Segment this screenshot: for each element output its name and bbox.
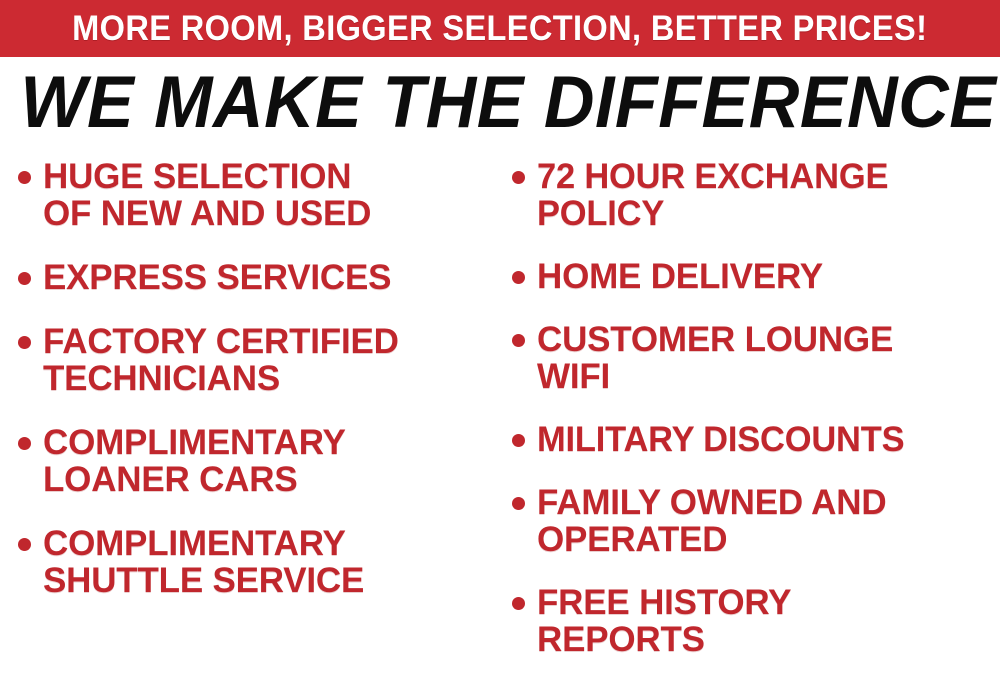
bullet-column-left: HUGE SELECTION OF NEW AND USED EXPRESS S… xyxy=(18,158,500,626)
top-banner: MORE ROOM, BIGGER SELECTION, BETTER PRIC… xyxy=(0,0,1000,57)
poster-root: MORE ROOM, BIGGER SELECTION, BETTER PRIC… xyxy=(0,0,1000,694)
bullet-dot-icon xyxy=(512,171,525,184)
list-item: COMPLIMENTARY LOANER CARS xyxy=(18,424,500,498)
bullet-label: COMPLIMENTARY SHUTTLE SERVICE xyxy=(43,525,364,599)
headline-container: WE MAKE THE DIFFERENCE xyxy=(0,66,1000,140)
bullet-dot-icon xyxy=(18,437,31,450)
list-item: FREE HISTORY REPORTS xyxy=(512,584,1000,658)
bullet-dot-icon xyxy=(512,434,525,447)
bullet-column-right: 72 HOUR EXCHANGE POLICY HOME DELIVERY CU… xyxy=(512,158,1000,684)
bullet-label: CUSTOMER LOUNGE WIFI xyxy=(537,321,893,395)
list-item: HOME DELIVERY xyxy=(512,258,1000,295)
banner-headline-text: MORE ROOM, BIGGER SELECTION, BETTER PRIC… xyxy=(72,11,927,46)
bullet-label: MILITARY DISCOUNTS xyxy=(537,421,904,458)
bullet-label: FREE HISTORY REPORTS xyxy=(537,584,791,658)
list-item: HUGE SELECTION OF NEW AND USED xyxy=(18,158,500,232)
bullet-label: HUGE SELECTION OF NEW AND USED xyxy=(43,158,371,232)
bullet-label: FACTORY CERTIFIED TECHNICIANS xyxy=(43,323,399,397)
bullet-dot-icon xyxy=(18,171,31,184)
bullet-label: COMPLIMENTARY LOANER CARS xyxy=(43,424,346,498)
bullet-dot-icon xyxy=(18,272,31,285)
bullet-columns: HUGE SELECTION OF NEW AND USED EXPRESS S… xyxy=(0,158,1000,688)
bullet-dot-icon xyxy=(512,271,525,284)
bullet-dot-icon xyxy=(512,597,525,610)
list-item: CUSTOMER LOUNGE WIFI xyxy=(512,321,1000,395)
list-item: FACTORY CERTIFIED TECHNICIANS xyxy=(18,323,500,397)
bullet-label: 72 HOUR EXCHANGE POLICY xyxy=(537,158,888,232)
bullet-dot-icon xyxy=(512,334,525,347)
bullet-dot-icon xyxy=(512,497,525,510)
list-item: EXPRESS SERVICES xyxy=(18,259,500,296)
bullet-label: HOME DELIVERY xyxy=(537,258,823,295)
main-headline: WE MAKE THE DIFFERENCE xyxy=(20,66,996,140)
list-item: 72 HOUR EXCHANGE POLICY xyxy=(512,158,1000,232)
list-item: FAMILY OWNED AND OPERATED xyxy=(512,484,1000,558)
bullet-label: FAMILY OWNED AND OPERATED xyxy=(537,484,886,558)
bullet-dot-icon xyxy=(18,336,31,349)
bullet-label: EXPRESS SERVICES xyxy=(43,259,391,296)
bullet-dot-icon xyxy=(18,538,31,551)
list-item: MILITARY DISCOUNTS xyxy=(512,421,1000,458)
list-item: COMPLIMENTARY SHUTTLE SERVICE xyxy=(18,525,500,599)
